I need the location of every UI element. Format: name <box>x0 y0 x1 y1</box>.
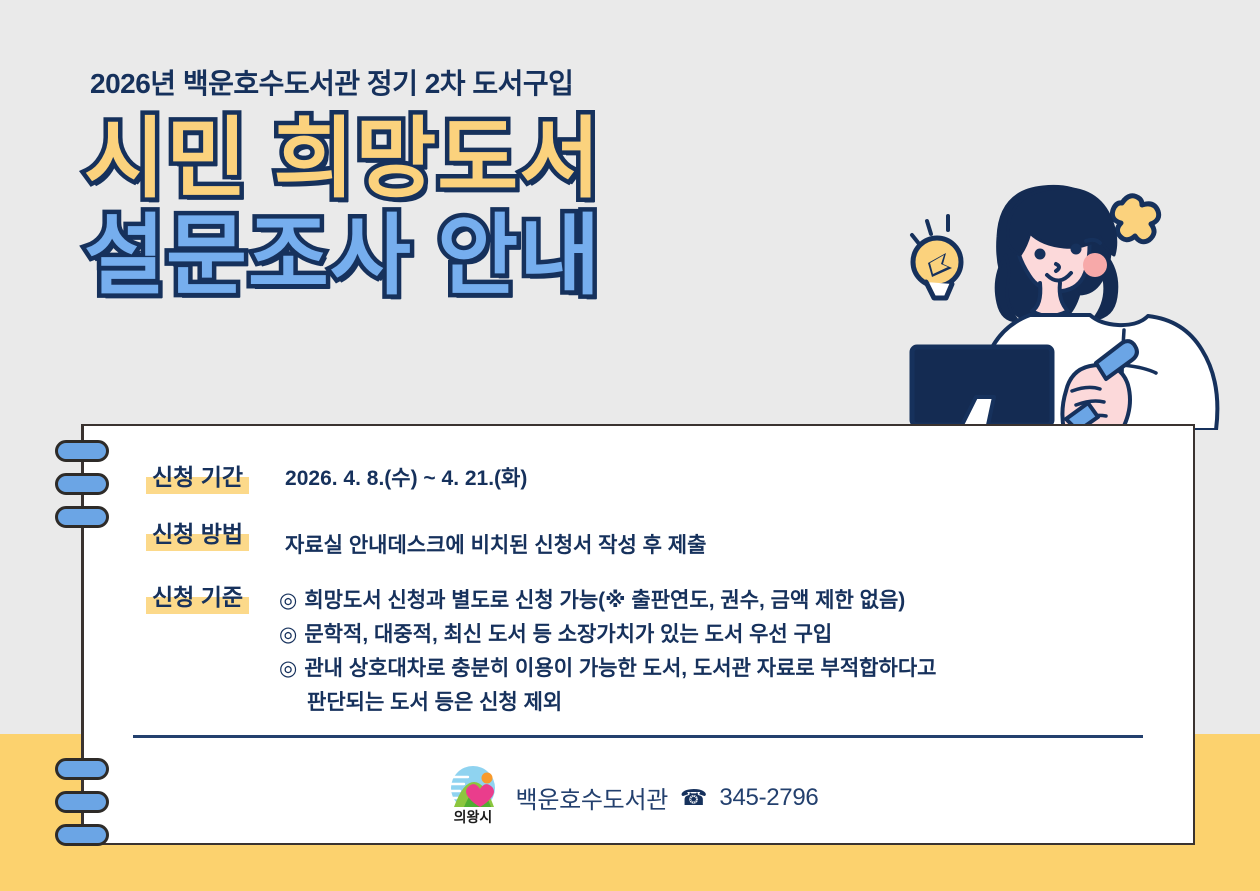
page-title: 시민 희망도서 설문조사 안내 <box>84 112 601 307</box>
value-application-method: 자료실 안내데스크에 비치된 신청서 작성 후 제출 <box>285 530 706 563</box>
phone-icon: ☎ <box>680 785 707 811</box>
value-application-period: 2026. 4. 8.(수) ~ 4. 21.(화) <box>285 463 527 496</box>
criteria-marker: ◎ <box>279 589 297 612</box>
criteria-marker: ◎ <box>279 623 297 646</box>
criteria-item: ◎관내 상호대차로 충분히 이용이 가능한 도서, 도서관 자료로 부적합하다고 <box>279 652 936 686</box>
binding-ring <box>55 506 109 528</box>
criteria-text: 희망도서 신청과 별도로 신청 가능(※ 출판연도, 권수, 금액 제한 없음) <box>304 589 905 612</box>
criteria-item: ◎문학적, 대중적, 최신 도서 등 소장가치가 있는 도서 우선 구입 <box>279 618 936 652</box>
title-line-2: 설문조사 안내 <box>84 209 601 302</box>
criteria-text-continuation: 판단되는 도서 등은 신청 제외 <box>279 686 936 720</box>
footer: 의왕시 백운호수도서관 ☎ 345-2796 <box>0 765 1260 830</box>
footer-library-name: 백운호수도서관 <box>516 780 668 815</box>
footer-divider <box>133 735 1143 738</box>
footer-phone-number: 345-2796 <box>719 784 818 812</box>
criteria-list: ◎희망도서 신청과 별도로 신청 가능(※ 출판연도, 권수, 금액 제한 없음… <box>279 584 936 720</box>
row-application-method: 신청 방법 자료실 안내데스크에 비치된 신청서 작성 후 제출 <box>146 520 706 563</box>
title-line-1: 시민 희망도서 <box>84 112 601 205</box>
binding-ring <box>55 440 109 462</box>
label-application-method: 신청 방법 <box>146 520 249 549</box>
row-application-criteria: 신청 기준 ◎희망도서 신청과 별도로 신청 가능(※ 출판연도, 권수, 금액… <box>146 583 936 720</box>
uiwang-city-logo: 의왕시 <box>442 765 504 830</box>
row-application-period: 신청 기간 2026. 4. 8.(수) ~ 4. 21.(화) <box>146 463 527 496</box>
poster-canvas: 2026년 백운호수도서관 정기 2차 도서구입 시민 희망도서 설문조사 안내 <box>0 0 1260 891</box>
criteria-marker: ◎ <box>279 657 297 680</box>
binding-ring <box>55 473 109 495</box>
label-application-period: 신청 기간 <box>146 463 249 492</box>
criteria-item: ◎희망도서 신청과 별도로 신청 가능(※ 출판연도, 권수, 금액 제한 없음… <box>279 584 936 618</box>
criteria-text: 관내 상호대차로 충분히 이용이 가능한 도서, 도서관 자료로 부적합하다고 <box>304 657 936 680</box>
svg-text:의왕시: 의왕시 <box>453 809 492 825</box>
eyebrow-text: 2026년 백운호수도서관 정기 2차 도서구입 <box>90 62 573 102</box>
label-application-criteria: 신청 기준 <box>146 583 249 612</box>
criteria-text: 문학적, 대중적, 최신 도서 등 소장가치가 있는 도서 우선 구입 <box>304 623 832 646</box>
person-illustration <box>890 175 1260 430</box>
